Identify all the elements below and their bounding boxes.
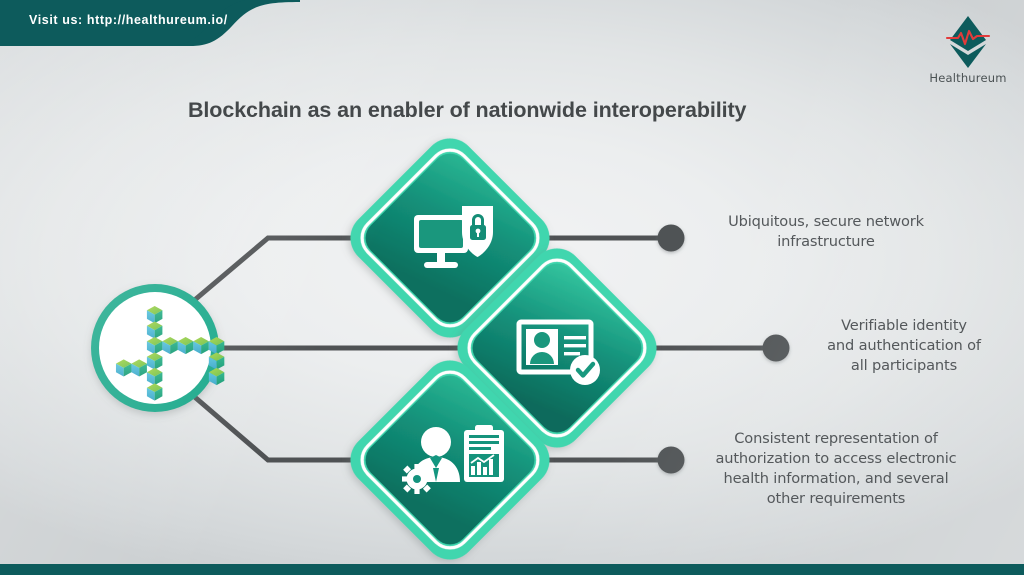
- callout-dot-1: [658, 225, 685, 252]
- callout-dot-2: [763, 335, 790, 362]
- infographic-slide: Visit us: http://healthureum.io/ Healthu…: [0, 0, 1024, 575]
- callout-label-2: Verifiable identity and authentication o…: [798, 316, 1010, 376]
- page-title: Blockchain as an enabler of nationwide i…: [188, 98, 746, 123]
- callout-dot-3: [658, 447, 685, 474]
- brand-logo[interactable]: Healthureum: [922, 14, 1014, 85]
- callout-label-3: Consistent representation of authorizati…: [700, 429, 972, 510]
- footer-bar: [0, 564, 1024, 575]
- healthureum-diamond-heartbeat-logo: [938, 14, 998, 70]
- callout-label-1: Ubiquitous, secure network infrastructur…: [700, 212, 952, 252]
- logo-wordmark: Healthureum: [922, 71, 1014, 85]
- header-banner: Visit us: http://healthureum.io/: [0, 0, 300, 48]
- visit-us-text[interactable]: Visit us: http://healthureum.io/: [29, 13, 228, 27]
